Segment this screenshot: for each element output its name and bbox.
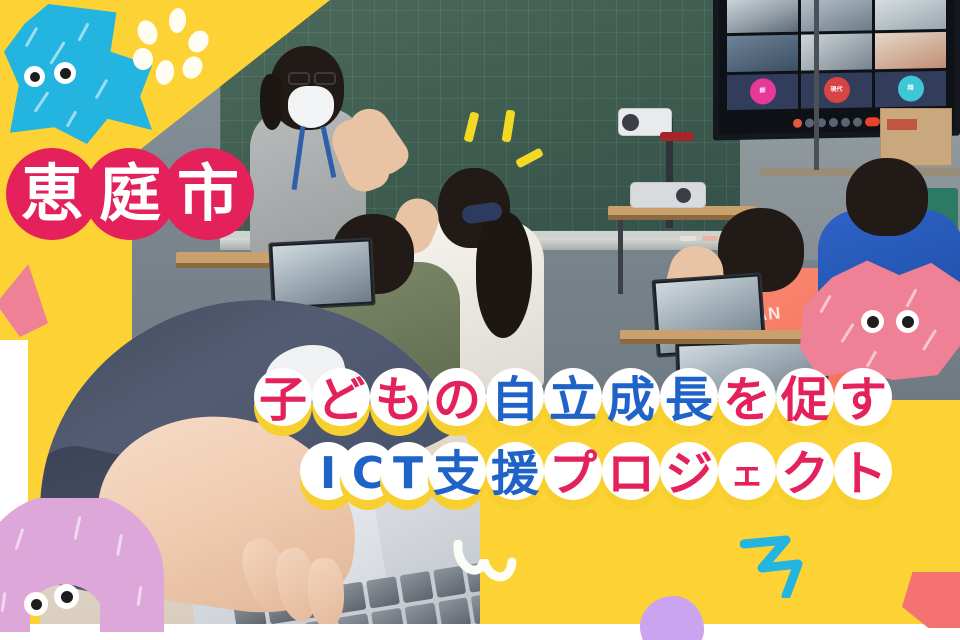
headline-char: ロ — [600, 438, 662, 510]
desk-leg — [618, 220, 623, 294]
chat-icon — [829, 117, 838, 126]
googly-eye-icon — [54, 584, 79, 609]
headline-line-2: I C T 支 援 プ ロ ジ ェ ク ト — [0, 438, 960, 510]
headline-char: ど — [310, 364, 372, 436]
video-tile — [801, 0, 872, 32]
share-screen-icon — [841, 117, 850, 126]
camera-lens-icon — [622, 114, 639, 131]
chalk-piece — [702, 236, 718, 241]
headline-char: 成 — [600, 364, 662, 436]
headline-char: も — [368, 364, 430, 436]
headline-char: 援 — [484, 438, 546, 510]
googly-eye-icon — [54, 62, 76, 84]
face-mask — [288, 86, 334, 128]
headline-char: 長 — [658, 364, 720, 436]
glasses-icon — [314, 72, 336, 85]
headline-char: ジ — [658, 438, 720, 510]
video-tile-avatar: 師 — [727, 73, 798, 110]
projector — [630, 182, 706, 208]
video-tile — [727, 0, 798, 33]
googly-eye-icon — [896, 310, 919, 333]
headline-char: プ — [542, 438, 604, 510]
city-badge-char: 恵 — [6, 148, 98, 240]
video-tile-avatar: 現代 — [801, 72, 872, 109]
headline-char: 立 — [542, 364, 604, 436]
end-call-icon — [865, 117, 880, 126]
headline-char: 支 — [426, 438, 488, 510]
white-wave-squiggle — [450, 540, 540, 600]
googly-eye-icon — [861, 310, 884, 333]
headline-char: 促 — [774, 364, 836, 436]
video-tile-avatar: 翔 — [875, 71, 946, 108]
headline-line-1: 子 ど も の 自 立 成 長 を 促 す — [0, 364, 960, 436]
googly-eye-icon — [24, 66, 45, 87]
mute-icon — [793, 118, 802, 127]
participant-avatar: 師 — [750, 78, 776, 104]
chalk-piece — [680, 236, 696, 241]
projector-lens-icon — [676, 188, 691, 203]
participant-avatar: 翔 — [898, 76, 924, 102]
headline-char: の — [426, 364, 488, 436]
googly-eye-icon — [24, 592, 48, 616]
camera-arm — [660, 132, 694, 141]
teacher-hair — [260, 74, 284, 130]
headline-char: す — [832, 364, 894, 436]
video-tile — [875, 32, 946, 69]
headline-char: 子 — [252, 364, 314, 436]
headline-char: ェ — [716, 438, 778, 510]
video-tile-grid: 師 現代 翔 — [727, 0, 946, 110]
video-tile — [727, 35, 798, 72]
student-head — [846, 158, 928, 236]
poster-root: 師 現代 翔 — [0, 0, 960, 640]
more-options-icon — [853, 117, 862, 126]
headline-char: を — [716, 364, 778, 436]
camera-icon — [805, 118, 814, 127]
video-tile — [801, 34, 872, 71]
headline-char: ト — [832, 438, 894, 510]
video-tile — [875, 0, 946, 31]
city-badge: 恵 庭 市 — [6, 148, 240, 240]
cable-conduit — [814, 0, 819, 170]
headline-char: 自 — [484, 364, 546, 436]
cyan-zigzag-squiggle — [740, 534, 818, 598]
page-title: 子 ど も の 自 立 成 長 を 促 す I C T 支 援 プ ロ ジ ェ … — [0, 364, 960, 510]
participant-avatar: 現代 — [824, 77, 850, 103]
glasses-icon — [288, 72, 310, 85]
student-desk — [620, 330, 810, 344]
headline-char: ク — [774, 438, 836, 510]
headline-char: T — [386, 438, 430, 510]
